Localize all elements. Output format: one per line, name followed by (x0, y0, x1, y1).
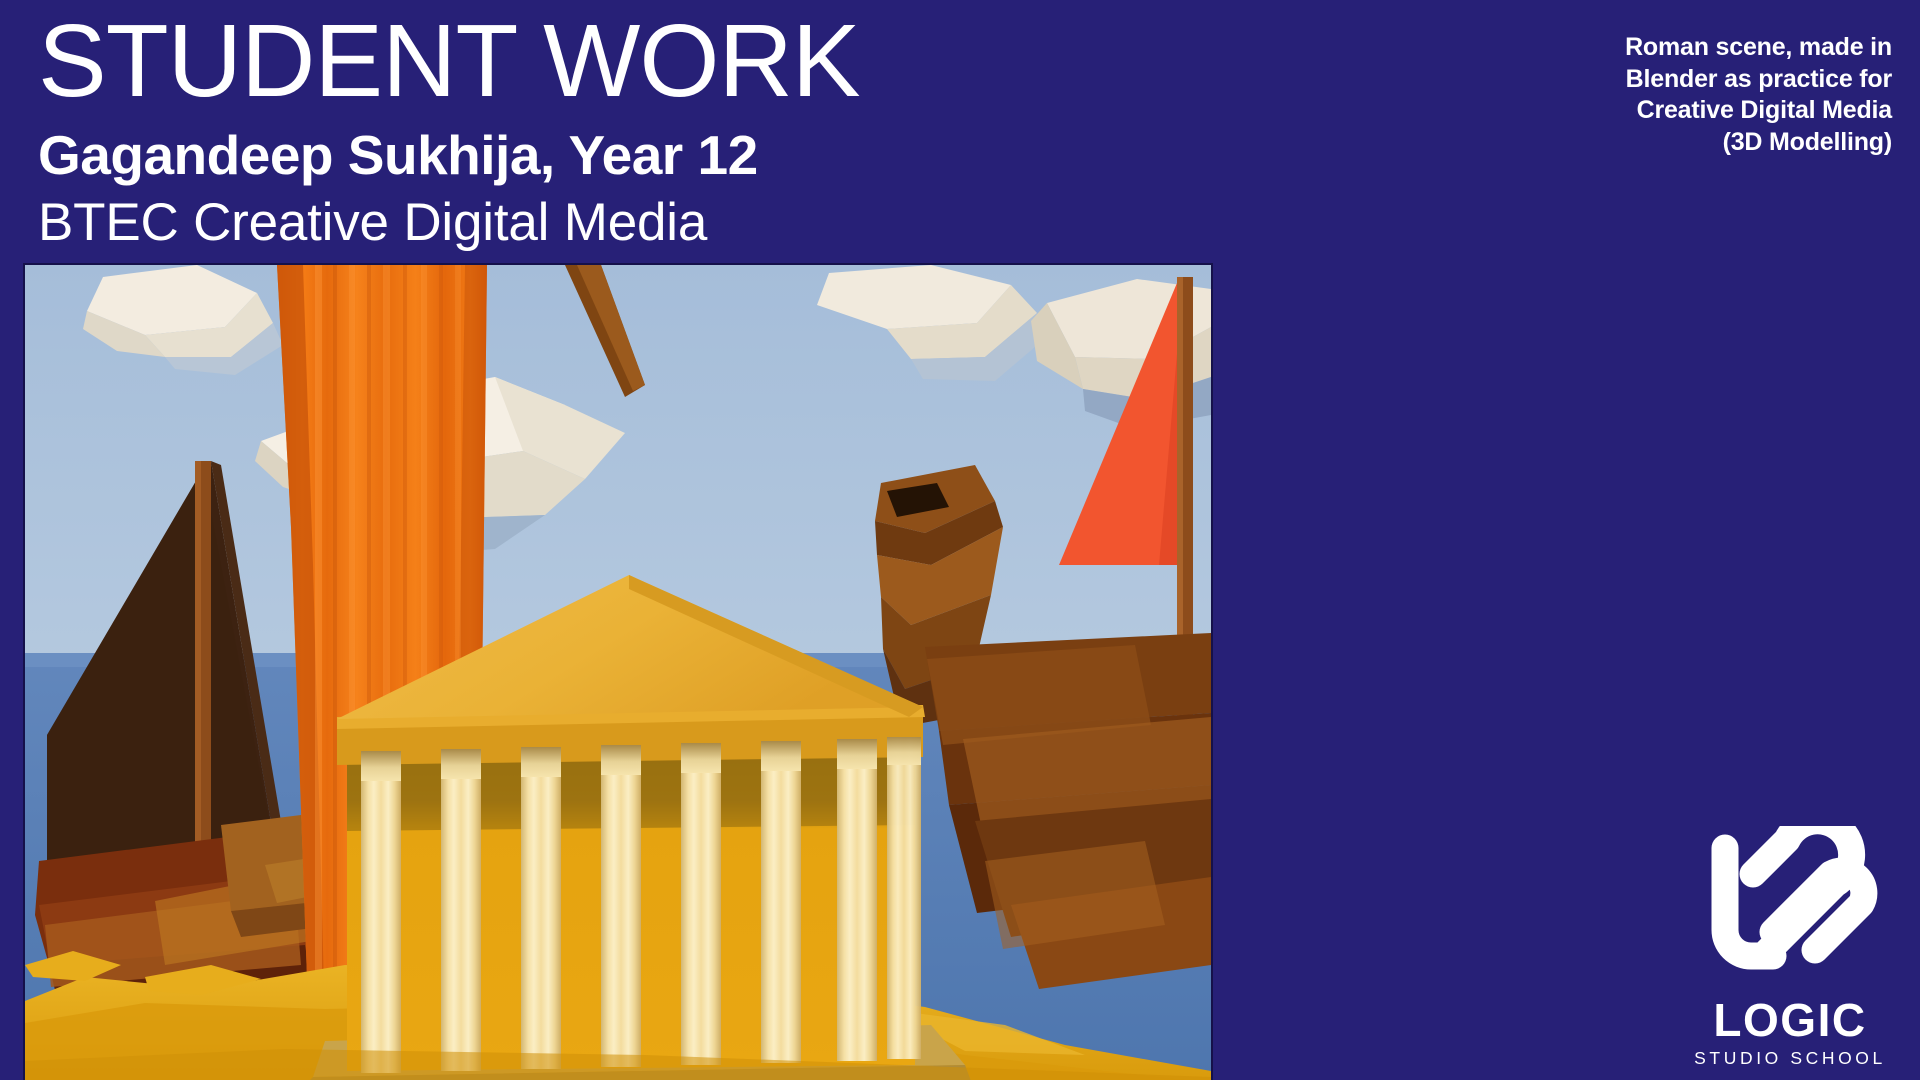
logo-wordmark: LOGIC (1665, 997, 1915, 1043)
course-name: BTEC Creative Digital Media (38, 193, 1188, 252)
caption-line-4: (3D Modelling) (1472, 127, 1892, 159)
logic-loop-icon (1665, 826, 1915, 996)
artwork-render-frame (25, 265, 1211, 1080)
caption-line-1: Roman scene, made in (1472, 32, 1892, 64)
header-block: STUDENT WORK Gagandeep Sukhija, Year 12 … (38, 6, 1188, 252)
temple-columns (361, 737, 921, 1073)
page-title: STUDENT WORK (38, 6, 1188, 115)
logic-studio-school-logo: LOGIC STUDIO SCHOOL (1665, 826, 1915, 1076)
roman-scene-render (25, 265, 1211, 1080)
student-name-year: Gagandeep Sukhija, Year 12 (38, 125, 1188, 187)
caption-line-2: Blender as practice for (1472, 64, 1892, 96)
caption-line-3: Creative Digital Media (1472, 95, 1892, 127)
poster-canvas: STUDENT WORK Gagandeep Sukhija, Year 12 … (0, 0, 1920, 1080)
artwork-caption: Roman scene, made in Blender as practice… (1472, 32, 1892, 158)
logo-tagline: STUDIO SCHOOL (1665, 1050, 1915, 1068)
